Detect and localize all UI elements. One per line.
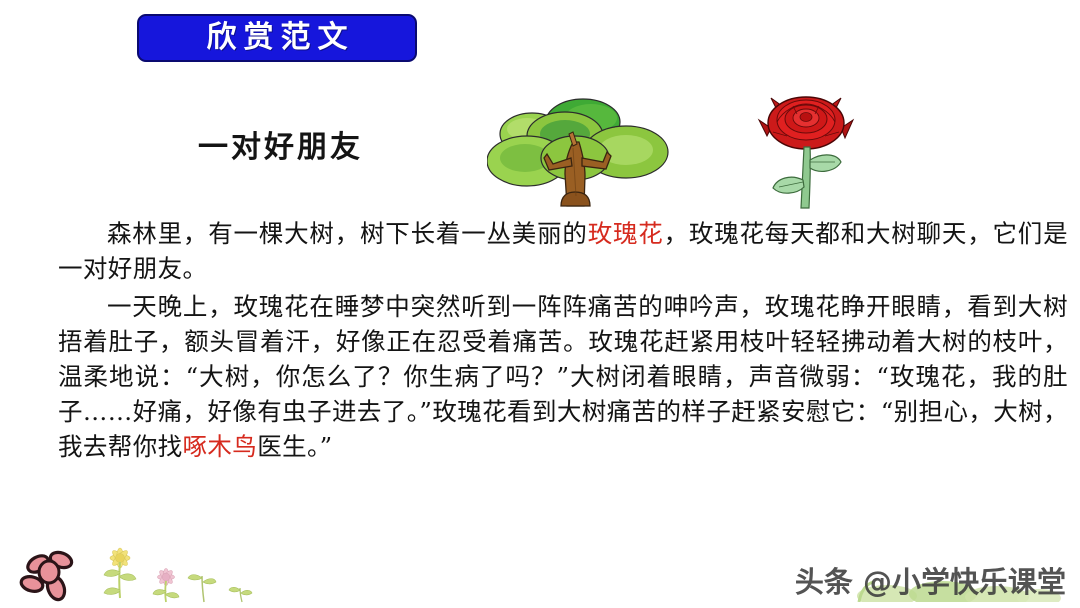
p1-seg-0: 森林里，有一棵大树，树下长着一丛美丽的 [107, 219, 588, 248]
paragraph-2: 一天晚上，玫瑰花在睡梦中突然听到一阵阵痛苦的呻吟声，玫瑰花睁开眼睛，看到大树捂着… [58, 289, 1068, 464]
p1-highlight-rose: 玫瑰花 [588, 219, 664, 248]
watermark-text: 头条 @小学快乐课堂 [795, 559, 1066, 601]
green-sprout-large-icon [188, 575, 216, 602]
title-banner: 欣赏范文 [137, 14, 417, 62]
title-banner-text: 欣赏范文 [200, 23, 355, 53]
decorative-flowers [16, 544, 266, 606]
p2-seg-2: 医生。” [257, 432, 332, 461]
paragraph-1: 森林里，有一棵大树，树下长着一丛美丽的玫瑰花，玫瑰花每天都和大树聊天，它们是一对… [58, 216, 1068, 286]
rose-illustration [757, 92, 855, 210]
watermark: 头条 @小学快乐课堂 [772, 550, 1072, 602]
yellow-daisy-icon [104, 548, 136, 598]
tree-illustration [487, 96, 672, 208]
p2-highlight-woodpecker: 啄木鸟 [183, 432, 258, 461]
pink-daisy-icon [153, 569, 179, 603]
green-sprout-small-icon [229, 587, 252, 602]
article-subtitle: 一对好朋友 [198, 122, 363, 166]
article-body: 森林里，有一棵大树，树下长着一丛美丽的玫瑰花，玫瑰花每天都和大树聊天，它们是一对… [58, 216, 1068, 467]
pink-outline-flower-icon [20, 550, 74, 602]
